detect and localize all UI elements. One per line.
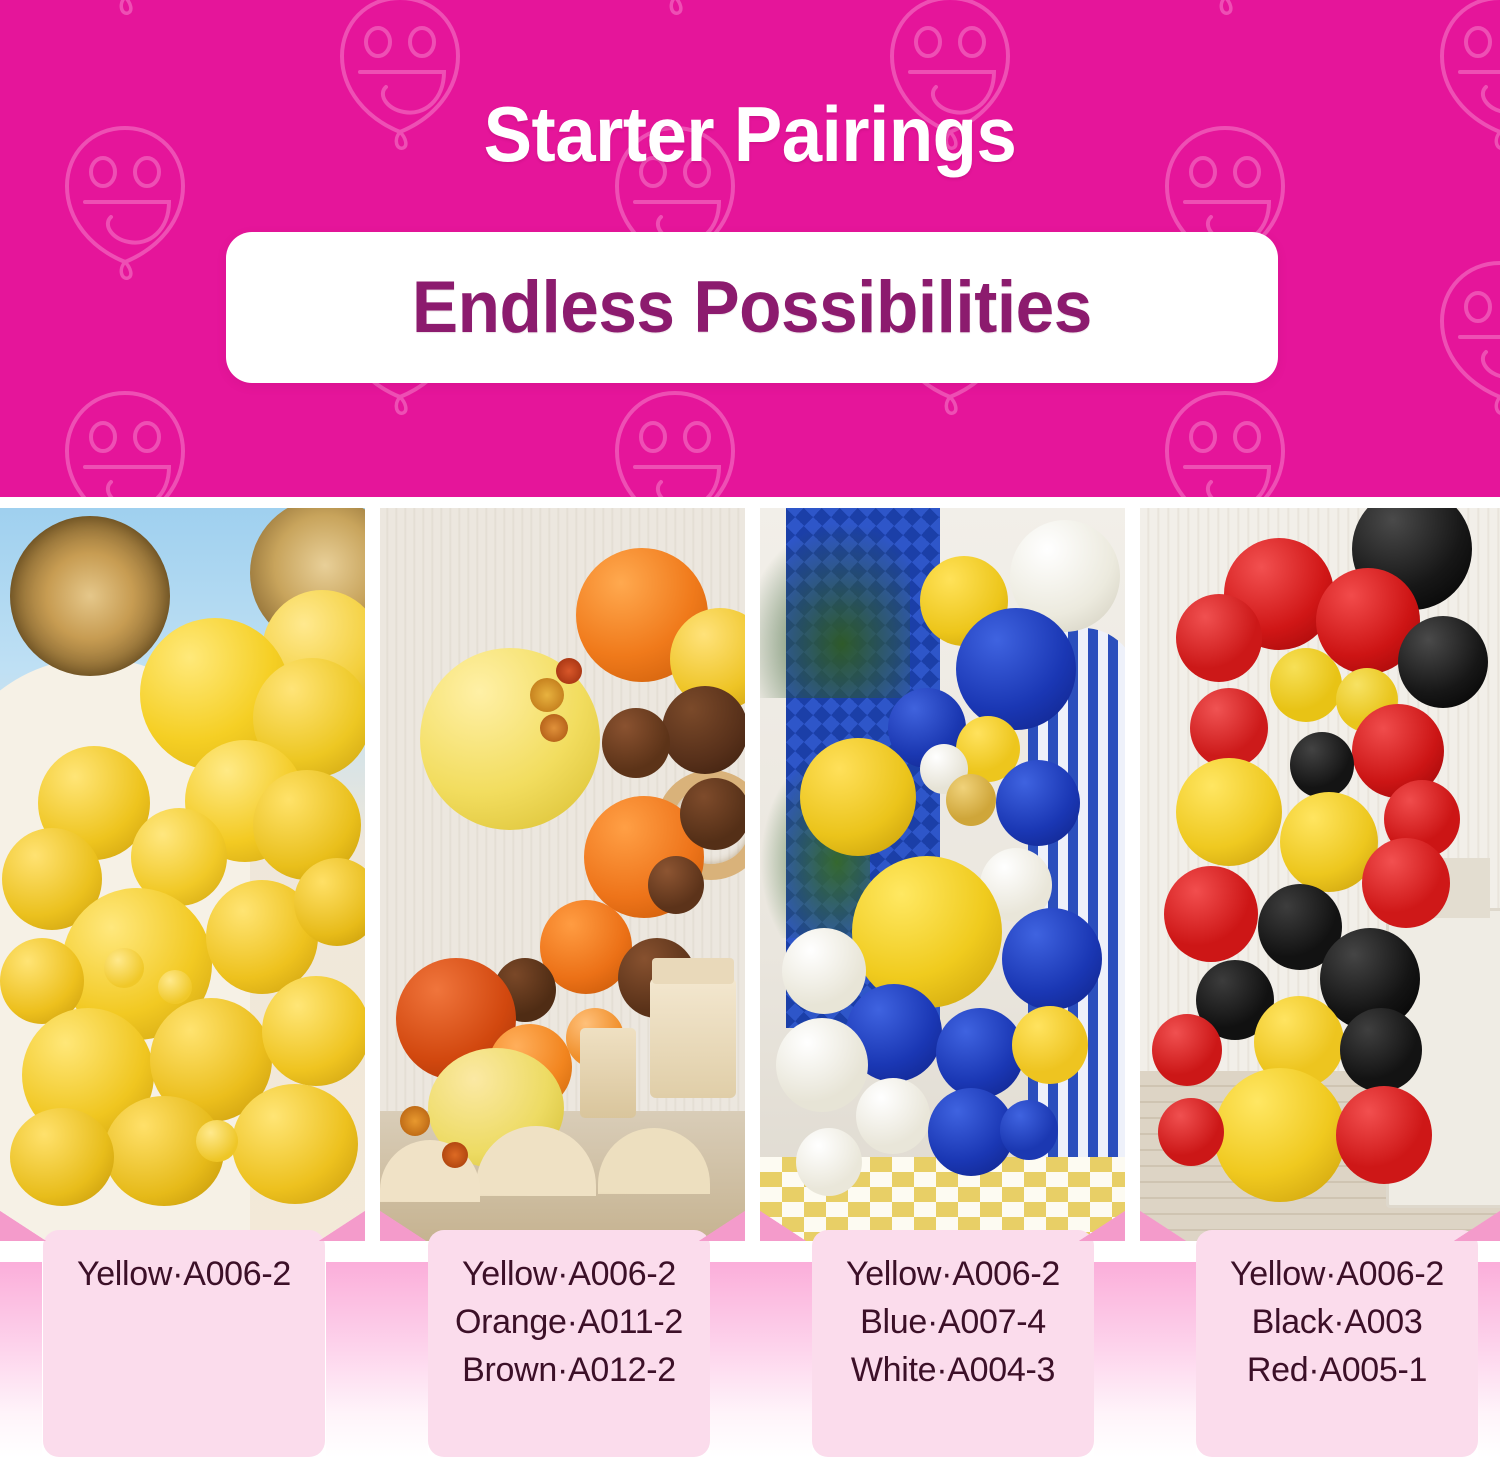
page-title: Starter Pairings — [53, 86, 1448, 182]
color-code-line: Yellow·A006-2 — [1196, 1250, 1478, 1298]
panel-corner-triangle-left — [380, 1211, 426, 1241]
pink-gradient-bar — [1094, 1262, 1196, 1457]
color-label-card-3[interactable]: Yellow·A006-2 Blue·A007-4 White·A004-3 — [812, 1230, 1094, 1457]
color-label-card-4[interactable]: Yellow·A006-2 Black·A003 Red·A005-1 — [1196, 1230, 1478, 1457]
color-code-line: Yellow·A006-2 — [43, 1250, 325, 1298]
panel-corner-triangle-left — [1140, 1211, 1186, 1241]
poster-root: Starter Pairings Endless Possibilities — [0, 0, 1500, 1457]
gallery-panel-red-black[interactable] — [1140, 508, 1500, 1241]
color-code-line: White·A004-3 — [812, 1346, 1094, 1394]
subtitle-card: Endless Possibilities — [226, 232, 1278, 383]
subtitle-text: Endless Possibilities — [412, 266, 1092, 349]
color-code-line: Yellow·A006-2 — [812, 1250, 1094, 1298]
pink-gradient-bar — [0, 1262, 42, 1457]
photo-yellow-balloon-garland — [0, 508, 365, 1241]
pink-gradient-bar — [1478, 1262, 1500, 1457]
panel-corner-triangle-left — [760, 1211, 806, 1241]
color-code-line: Yellow·A006-2 — [428, 1250, 710, 1298]
header-banner: Starter Pairings Endless Possibilities — [0, 0, 1500, 497]
pink-gradient-bar — [710, 1262, 812, 1457]
gallery-panel-orange-brown[interactable] — [380, 508, 745, 1241]
panel-corner-triangle-left — [0, 1211, 46, 1241]
photo-red-black-balloon-garland — [1140, 508, 1500, 1241]
panel-corner-triangle-right — [1079, 1211, 1125, 1241]
panel-corner-triangle-right — [699, 1211, 745, 1241]
color-code-label-strip: Yellow·A006-2 Yellow·A006-2 Orange·A011-… — [0, 1262, 1500, 1457]
color-code-line: Black·A003 — [1196, 1298, 1478, 1346]
pink-gradient-bar — [326, 1262, 428, 1457]
color-code-line: Brown·A012-2 — [428, 1346, 710, 1394]
panel-corner-triangle-right — [1454, 1211, 1500, 1241]
photo-autumn-balloon-garland — [380, 508, 745, 1241]
color-code-line: Blue·A007-4 — [812, 1298, 1094, 1346]
gallery-panel-yellow[interactable] — [0, 508, 365, 1241]
color-code-line: Orange·A011-2 — [428, 1298, 710, 1346]
photo-blue-white-balloon-garland — [760, 508, 1125, 1241]
panel-corner-triangle-right — [319, 1211, 365, 1241]
gallery-panel-blue-white[interactable] — [760, 508, 1125, 1241]
color-code-line: Red·A005-1 — [1196, 1346, 1478, 1394]
color-label-card-2[interactable]: Yellow·A006-2 Orange·A011-2 Brown·A012-2 — [428, 1230, 710, 1457]
color-label-card-1[interactable]: Yellow·A006-2 — [43, 1230, 325, 1457]
